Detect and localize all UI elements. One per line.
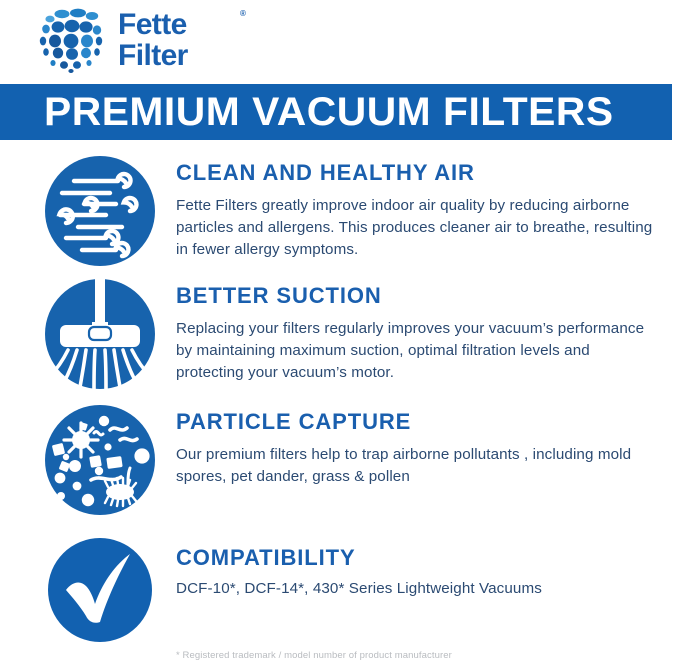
checkmark-icon [44,534,156,646]
brand-name-line1: Fette [118,9,188,40]
registered-trademark-icon: ® [240,9,246,18]
feature-text: Replacing your filters regularly improve… [176,318,656,384]
feature-text: Fette Filters greatly improve indoor air… [176,195,656,261]
banner: PREMIUM VACUUM FILTERS [0,84,672,140]
brand-wordmark: Fette Filter ® [118,9,188,71]
vacuum-head-icon [44,278,156,390]
wind-lines-icon [44,155,156,267]
feature-title: CLEAN AND HEALTHY AIR [176,161,656,185]
feature-particle-capture: PARTICLE CAPTURE Our premium filters hel… [0,404,679,516]
feature-compatibility: COMPATIBILITY DCF-10*, DCF-14*, 430* Ser… [0,534,679,646]
feature-title: COMPATIBILITY [176,546,656,570]
feature-title: BETTER SUCTION [176,284,656,308]
feature-body: CLEAN AND HEALTHY AIR Fette Filters grea… [176,155,656,261]
feature-body: BETTER SUCTION Replacing your filters re… [176,278,656,384]
feature-text: DCF-10*, DCF-14*, 430* Series Lightweigh… [176,578,656,600]
brand-name-line2: Filter [118,40,188,71]
footnote: * Registered trademark / model number of… [176,650,452,662]
feature-better-suction: BETTER SUCTION Replacing your filters re… [0,278,679,390]
sphere-dots-icon [36,7,108,73]
banner-title: PREMIUM VACUUM FILTERS [44,92,614,132]
feature-text: Our premium filters help to trap airborn… [176,444,656,488]
feature-clean-air: CLEAN AND HEALTHY AIR Fette Filters grea… [0,155,679,267]
feature-title: PARTICLE CAPTURE [176,410,656,434]
particles-germs-icon [44,404,156,516]
brand-logo: Fette Filter ® [36,4,336,76]
feature-body: PARTICLE CAPTURE Our premium filters hel… [176,404,656,488]
feature-body: COMPATIBILITY DCF-10*, DCF-14*, 430* Ser… [176,534,656,600]
